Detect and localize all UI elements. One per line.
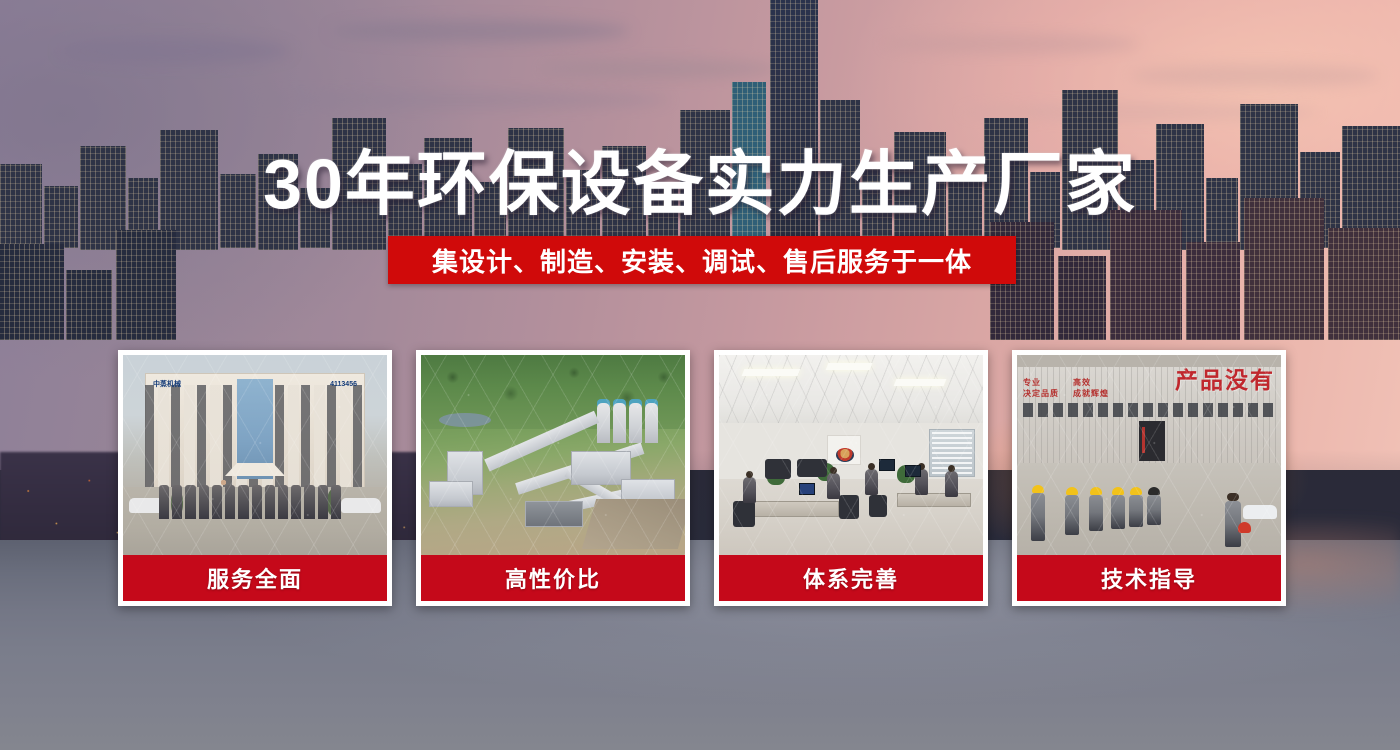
staff-lineup xyxy=(159,485,341,519)
hardhat-icon xyxy=(1066,487,1078,495)
card-caption: 高性价比 xyxy=(421,555,685,601)
page-title: 30年环保设备实力生产厂家 xyxy=(0,128,1400,229)
building xyxy=(66,270,112,340)
person-seated xyxy=(945,471,958,497)
staff-person xyxy=(199,485,209,519)
slogan-word-4: 成就辉煌 xyxy=(1073,388,1109,399)
company-name-sign: 中蒸机械 xyxy=(153,379,181,389)
building xyxy=(1058,256,1106,340)
monitor xyxy=(799,483,815,495)
chair xyxy=(733,501,755,527)
staff-person xyxy=(291,485,301,519)
feature-card-list: 中蒸机械 4113456 xyxy=(118,350,1280,606)
card-image-factory-yard: 产品没有 专业 决定品质 高效 成就辉煌 xyxy=(1017,355,1281,555)
feature-card[interactable]: 高性价比 xyxy=(416,350,690,606)
desk xyxy=(897,493,971,507)
phone-number-sign: 4113456 xyxy=(330,381,357,388)
hardhat-icon xyxy=(1130,487,1142,495)
factory-slogan-small-2: 高效 成就辉煌 xyxy=(1073,377,1109,399)
parked-car-right xyxy=(341,498,381,513)
worker xyxy=(1089,495,1103,531)
building-signage: 中蒸机械 4113456 xyxy=(153,379,357,389)
storage-silo xyxy=(629,403,642,443)
staff-person xyxy=(252,485,262,519)
plant-building xyxy=(429,481,473,507)
card-image-office-interior xyxy=(719,355,983,555)
feature-card[interactable]: 产品没有 专业 决定品质 高效 成就辉煌 xyxy=(1012,350,1286,606)
staff-person xyxy=(212,485,222,519)
staff-person xyxy=(172,485,182,519)
staff-person xyxy=(278,485,288,519)
cap-icon xyxy=(1148,487,1160,495)
ceiling-light xyxy=(826,363,873,370)
feature-card[interactable]: 中蒸机械 4113456 xyxy=(118,350,392,606)
staff-person xyxy=(318,485,328,519)
building xyxy=(116,230,176,340)
hardhat-icon xyxy=(1090,487,1102,495)
chair xyxy=(869,495,887,517)
monitor xyxy=(905,465,921,477)
wall-poster xyxy=(827,435,861,465)
chair xyxy=(797,459,827,477)
hardhat-icon xyxy=(1032,485,1044,493)
staff-person xyxy=(185,485,195,519)
factory-window-row xyxy=(1023,403,1275,417)
worker xyxy=(1147,495,1161,525)
building xyxy=(1328,228,1400,340)
slogan-word-3: 决定品质 xyxy=(1023,388,1059,399)
chair xyxy=(765,459,791,479)
staff-person xyxy=(159,485,169,519)
plant-building xyxy=(525,501,583,527)
card-image-aerial-plant xyxy=(421,355,685,555)
card-caption: 体系完善 xyxy=(719,555,983,601)
chair xyxy=(839,495,859,519)
feature-card[interactable]: 体系完善 xyxy=(714,350,988,606)
worker xyxy=(1129,495,1143,527)
pond xyxy=(439,413,491,427)
staff-person xyxy=(265,485,275,519)
hardhat-icon xyxy=(1112,487,1124,495)
slogan-word-2: 高效 xyxy=(1073,377,1109,388)
card-caption: 技术指导 xyxy=(1017,555,1281,601)
building xyxy=(1186,242,1240,340)
card-caption: 服务全面 xyxy=(123,555,387,601)
staff-person xyxy=(304,485,314,519)
card-image-office-building: 中蒸机械 4113456 xyxy=(123,355,387,555)
building-pediment xyxy=(225,463,285,476)
access-road xyxy=(582,499,685,549)
monitor xyxy=(879,459,895,471)
storage-silo xyxy=(613,403,626,443)
ceiling-light xyxy=(742,369,801,376)
person-seated xyxy=(865,469,878,495)
staff-person xyxy=(331,485,341,519)
factory-door xyxy=(1139,421,1165,461)
staff-person xyxy=(238,485,248,519)
person-seated xyxy=(743,477,756,503)
worker xyxy=(1065,495,1079,535)
subtitle-banner: 集设计、制造、安装、调试、售后服务于一体 xyxy=(388,236,1016,284)
building xyxy=(1110,210,1182,340)
promo-banner: 30年环保设备实力生产厂家 集设计、制造、安装、调试、售后服务于一体 中蒸机械 … xyxy=(0,0,1400,750)
worker xyxy=(1111,495,1125,529)
desk xyxy=(753,501,839,517)
worker xyxy=(1031,493,1045,541)
factory-slogan-main: 产品没有 xyxy=(1175,361,1275,395)
parked-car xyxy=(1243,505,1277,519)
person-seated xyxy=(827,473,840,499)
storage-silo xyxy=(597,403,610,443)
storage-silo xyxy=(645,403,658,443)
red-helmet-icon xyxy=(1238,522,1251,533)
ceiling-light xyxy=(894,379,947,386)
building xyxy=(0,244,64,340)
factory-slogan-small: 专业 决定品质 xyxy=(1023,377,1059,399)
slogan-word-1: 专业 xyxy=(1023,377,1059,388)
hair-icon xyxy=(1227,493,1239,501)
staff-person xyxy=(225,485,235,519)
